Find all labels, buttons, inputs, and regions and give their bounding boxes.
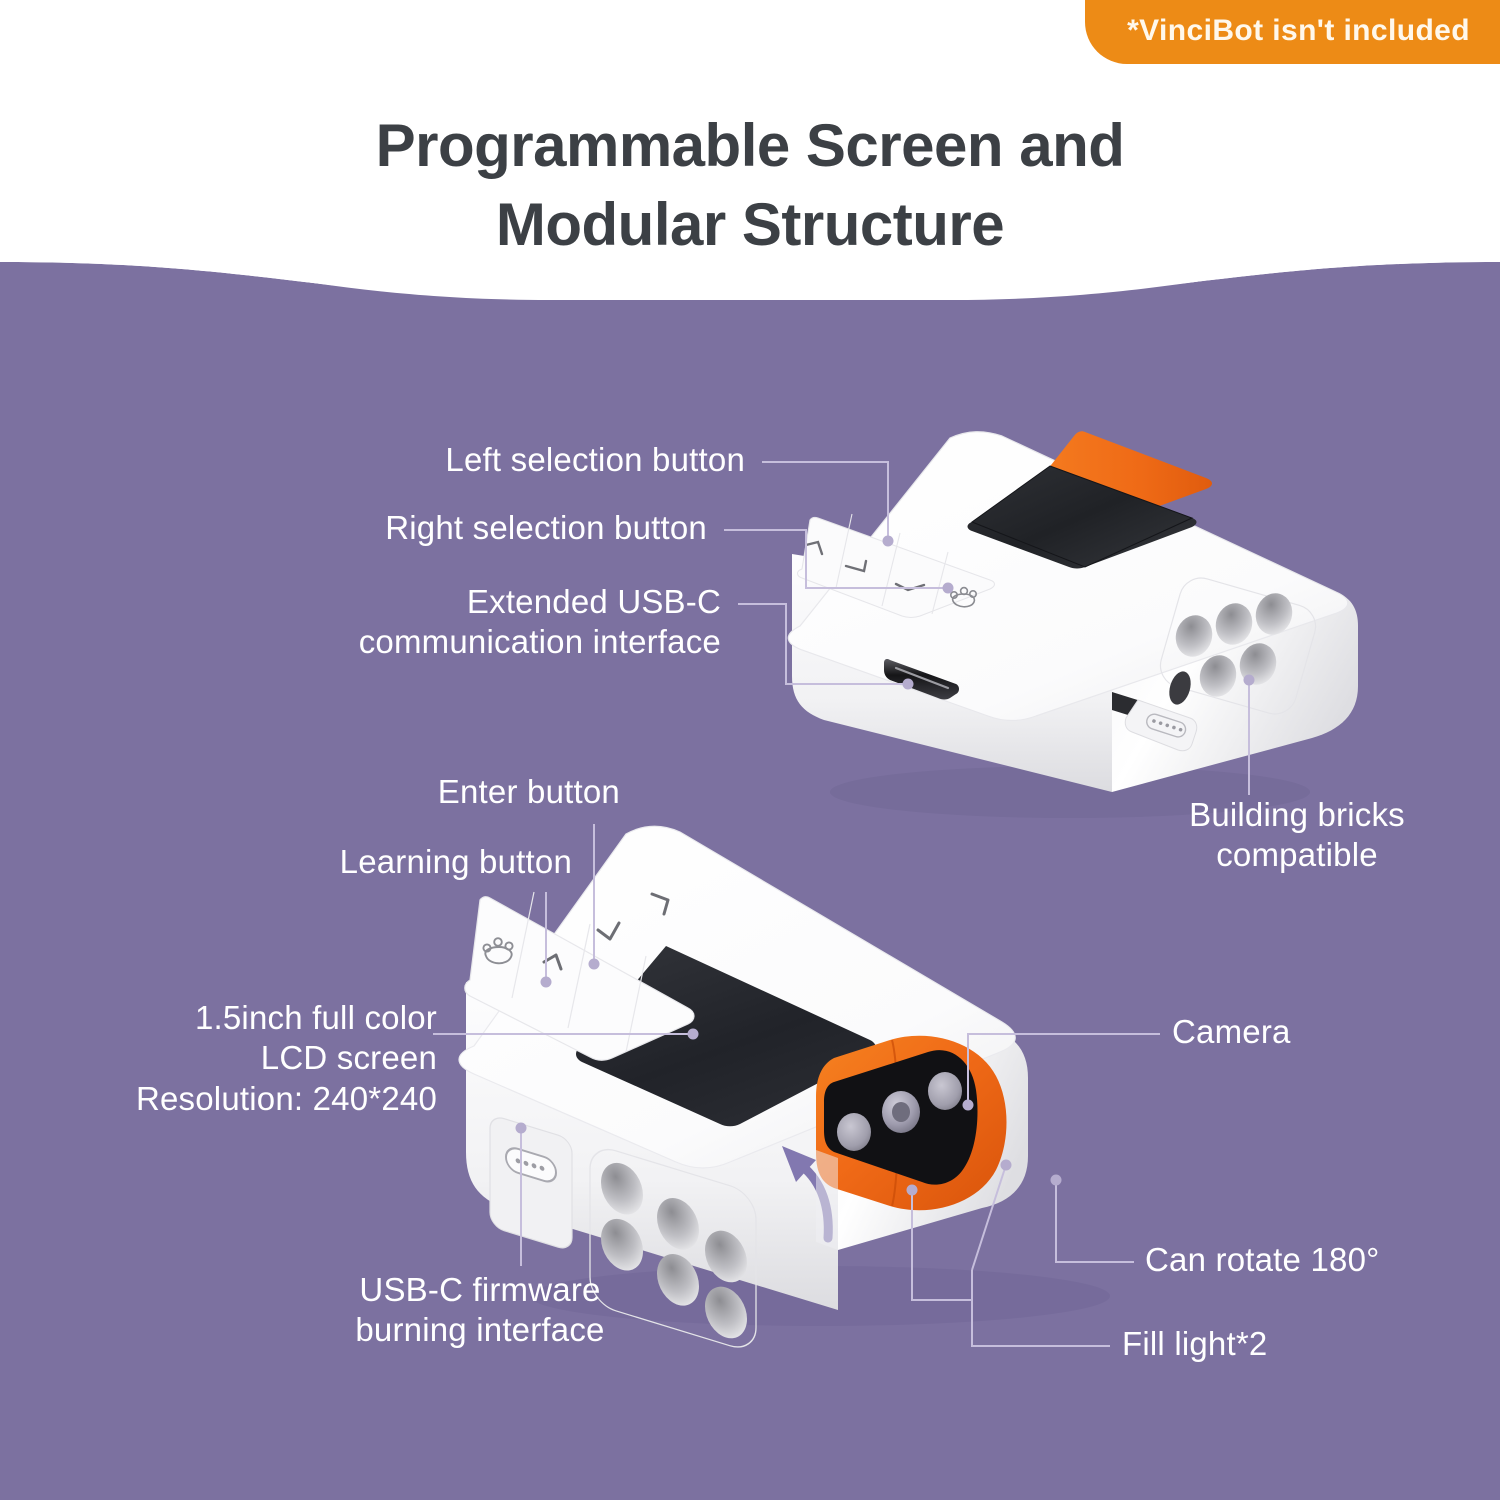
- callout-extended-usb-c: Extended USB-C communication interface: [359, 582, 721, 663]
- title-line-1: Programmable Screen and: [0, 106, 1500, 185]
- callout-lcd-screen: 1.5inch full color LCD screen Resolution…: [136, 998, 437, 1119]
- callout-usb-c-firmware: USB-C firmware burning interface: [320, 1270, 640, 1351]
- callout-building-bricks: Building bricks compatible: [1152, 795, 1442, 876]
- callout-left-selection-button: Left selection button: [445, 440, 745, 480]
- top-device-illustration: [740, 400, 1380, 830]
- camera-module: [816, 1036, 1007, 1210]
- callout-right-selection-button: Right selection button: [385, 508, 707, 548]
- fill-light-left: [837, 1113, 871, 1151]
- callout-fill-light: Fill light*2: [1122, 1324, 1267, 1364]
- camera-lens: [882, 1091, 920, 1133]
- callout-camera: Camera: [1172, 1012, 1291, 1052]
- title-line-2: Modular Structure: [0, 185, 1500, 264]
- disclaimer-text: *VinciBot isn't included: [1127, 14, 1470, 47]
- callout-enter-button: Enter button: [438, 772, 620, 812]
- infographic-canvas: *VinciBot isn't included Programmable Sc…: [0, 0, 1500, 1500]
- fill-light-right: [928, 1072, 962, 1110]
- page-title: Programmable Screen and Modular Structur…: [0, 106, 1500, 264]
- callout-learning-button: Learning button: [340, 842, 572, 882]
- callout-can-rotate: Can rotate 180°: [1145, 1240, 1380, 1280]
- disclaimer-badge: *VinciBot isn't included: [1085, 0, 1500, 64]
